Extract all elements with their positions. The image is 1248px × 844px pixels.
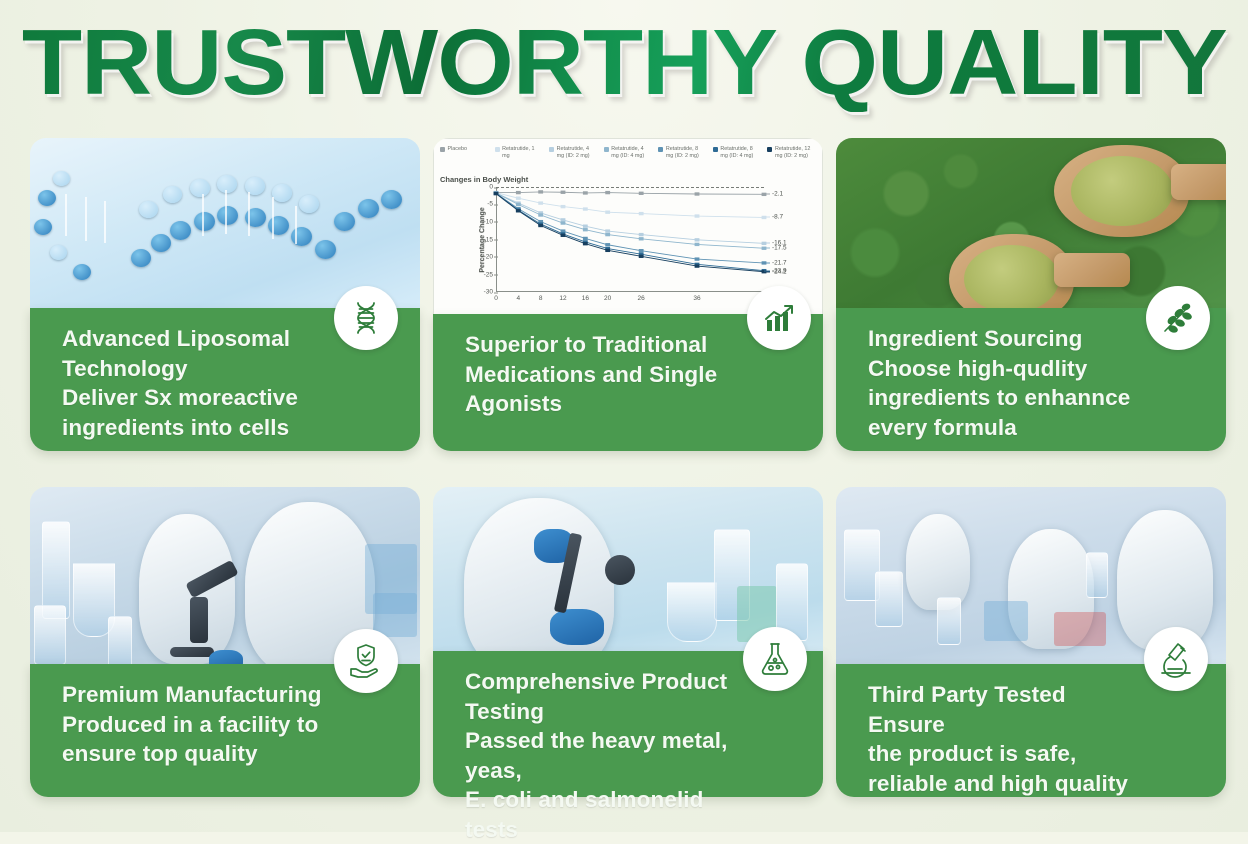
chart-data-point xyxy=(538,213,543,216)
legend-label: Placebo xyxy=(448,146,467,153)
chart-end-tick xyxy=(764,217,770,218)
chart-data-point xyxy=(516,209,521,212)
chart-series-line xyxy=(496,192,764,194)
chart-x-tick: 4 xyxy=(517,295,521,302)
card-third-party-tested[interactable]: Third Party Tested Ensure the product is… xyxy=(836,487,1226,797)
card-heading: Third Party Tested Ensure xyxy=(868,680,1148,739)
legend-item: Retatrutide, 8 mg (ID: 4 mg) xyxy=(713,146,762,160)
feature-card-grid: Advanced LiposomalTechnology Deliver Sx … xyxy=(30,138,1226,797)
chart-data-point xyxy=(695,243,700,246)
card-body: the product is safe,reliable and high qu… xyxy=(868,739,1148,798)
leaf-branch-icon xyxy=(1146,286,1210,350)
legend-item: Retatrutide, 4 mg (ID: 4 mg) xyxy=(604,146,653,160)
chart-data-point xyxy=(583,228,588,231)
legend-label: Retatrutide, 12 mg (ID: 2 mg) xyxy=(775,146,816,160)
infographic-page: TRUSTWORTHY QUALITY xyxy=(0,0,1248,832)
card-heading: Advanced LiposomalTechnology xyxy=(62,324,342,383)
legend-swatch xyxy=(713,147,718,152)
chart-data-point xyxy=(639,212,644,215)
chart-data-point xyxy=(516,197,521,200)
card-heading: Superior to TraditionalMedications and S… xyxy=(465,330,745,419)
chart-data-point xyxy=(639,233,644,236)
chart-y-tick: -10 xyxy=(484,218,493,225)
chart-x-tick: 12 xyxy=(559,295,566,302)
hand-shield-check-icon xyxy=(334,629,398,693)
legend-label: Retatrutide, 1 mg xyxy=(502,146,543,160)
page-title: TRUSTWORTHY QUALITY xyxy=(22,14,1227,112)
chart-end-tick xyxy=(764,194,770,195)
legend-item: Retatrutide, 1 mg xyxy=(495,146,544,160)
chart-end-tick xyxy=(764,271,770,272)
chart-data-point xyxy=(695,214,700,217)
chart-end-label: -2.1 xyxy=(772,191,783,198)
chart-data-point xyxy=(561,191,566,194)
page-title-wrap: TRUSTWORTHY QUALITY xyxy=(0,14,1248,112)
chart-y-tick: -15 xyxy=(484,236,493,243)
chart-data-point xyxy=(605,211,610,214)
legend-label: Retatrutide, 4 mg (ID: 4 mg) xyxy=(611,146,652,160)
chart-end-label: -21.7 xyxy=(772,259,787,266)
chart-data-point xyxy=(583,237,588,240)
chart-series-line xyxy=(496,193,764,218)
legend-swatch xyxy=(658,147,663,152)
chart-data-point xyxy=(561,218,566,221)
chart-data-point xyxy=(583,207,588,210)
chart-series-line xyxy=(496,193,764,270)
card-heading: Premium Manufacturing xyxy=(62,680,342,710)
card-heading: Ingredient Sourcing xyxy=(868,324,1148,354)
chart-data-point xyxy=(695,257,700,260)
card-ingredient-sourcing[interactable]: Ingredient Sourcing Choose high-qudlityi… xyxy=(836,138,1226,451)
card-body: Produced in a facility toensure top qual… xyxy=(62,710,342,769)
chart-y-tick: -5 xyxy=(487,201,493,208)
chart-data-point xyxy=(695,264,700,267)
chart-data-point xyxy=(605,191,610,194)
chart-y-tick: -20 xyxy=(484,253,493,260)
chart-data-point xyxy=(516,203,521,206)
chart-x-tick: 36 xyxy=(693,295,700,302)
card-premium-manufacturing[interactable]: Premium Manufacturing Produced in a faci… xyxy=(30,487,420,797)
legend-swatch xyxy=(767,147,772,152)
legend-item: Retatrutide, 12 mg (ID: 2 mg) xyxy=(767,146,816,160)
legend-item: Placebo xyxy=(440,146,489,153)
chart-series-line xyxy=(496,194,764,272)
chart-data-point xyxy=(639,237,644,240)
chart-x-tick: 26 xyxy=(638,295,645,302)
card-superior-to-traditional-medications[interactable]: Placebo Retatrutide, 1 mg Retatrutide, 4… xyxy=(433,138,823,451)
chart-data-point xyxy=(538,190,543,193)
chart-x-tick: 8 xyxy=(539,295,543,302)
microscope-icon xyxy=(1144,627,1208,691)
chart-data-point xyxy=(695,238,700,241)
chart-data-point xyxy=(605,229,610,232)
legend-item: Retatrutide, 4 mg (ID: 2 mg) xyxy=(549,146,598,160)
chart-data-point xyxy=(695,192,700,195)
legend-swatch xyxy=(549,147,554,152)
chart-data-point xyxy=(639,192,644,195)
legend-swatch xyxy=(604,147,609,152)
chart-series-group xyxy=(496,187,764,292)
card-advanced-liposomal-technology[interactable]: Advanced LiposomalTechnology Deliver Sx … xyxy=(30,138,420,451)
chart-data-point xyxy=(605,249,610,252)
chart-x-tick: 16 xyxy=(582,295,589,302)
card-body: Deliver Sx moreactiveingredients into ce… xyxy=(62,383,342,442)
chart-end-label: -8.7 xyxy=(772,214,783,221)
chart-data-point xyxy=(605,243,610,246)
legend-swatch xyxy=(440,147,445,152)
chart-data-point xyxy=(561,221,566,224)
chart-series-line xyxy=(496,193,764,243)
chart-data-point xyxy=(494,192,499,195)
chart-data-point xyxy=(516,191,521,194)
legend-label: Retatrutide, 8 mg (ID: 2 mg) xyxy=(666,146,707,160)
card-heading: Comprehensive ProductTesting xyxy=(465,667,745,726)
chart-x-tick: 0 xyxy=(494,295,498,302)
chart-end-tick xyxy=(764,262,770,263)
chart-data-point xyxy=(583,242,588,245)
chart-end-tick xyxy=(764,243,770,244)
chart-title: Changes in Body Weight xyxy=(440,175,528,184)
chart-data-point xyxy=(639,249,644,252)
chart-data-point xyxy=(605,233,610,236)
legend-label: Retatrutide, 8 mg (ID: 4 mg) xyxy=(720,146,761,160)
chart-zero-line xyxy=(496,187,764,188)
chart-series-line xyxy=(496,193,764,248)
card-body: Passed the heavy metal, yeas,E. coli and… xyxy=(465,726,745,844)
dna-icon xyxy=(334,286,398,350)
legend-label: Retatrutide, 4 mg (ID: 2 mg) xyxy=(557,146,598,160)
legend-item: Retatrutide, 8 mg (ID: 2 mg) xyxy=(658,146,707,160)
chart-y-tick: 0 xyxy=(489,184,493,191)
chart-plot-area: Percentage Change 0-5-10-15-20-25-300481… xyxy=(496,187,764,292)
chart-x-tick: 20 xyxy=(604,295,611,302)
chart-data-point xyxy=(639,255,644,258)
chart-y-tick: -30 xyxy=(484,289,493,296)
legend-swatch xyxy=(495,147,500,152)
chart-data-point xyxy=(583,225,588,228)
chart-data-point xyxy=(538,224,543,227)
card-comprehensive-product-testing[interactable]: Comprehensive ProductTesting Passed the … xyxy=(433,487,823,797)
card-body: Choose high-qudlityingredients to enhann… xyxy=(868,354,1148,443)
chart-data-point xyxy=(561,234,566,237)
flask-icon xyxy=(743,627,807,691)
chart-data-point xyxy=(583,191,588,194)
chart-data-point xyxy=(561,205,566,208)
chart-y-tick: -25 xyxy=(484,271,493,278)
chart-end-label: -24.2 xyxy=(772,268,787,275)
chart-data-point xyxy=(538,201,543,204)
growth-chart-icon xyxy=(747,286,811,350)
chart-end-label: -17.5 xyxy=(772,245,787,252)
chart-end-tick xyxy=(764,248,770,249)
